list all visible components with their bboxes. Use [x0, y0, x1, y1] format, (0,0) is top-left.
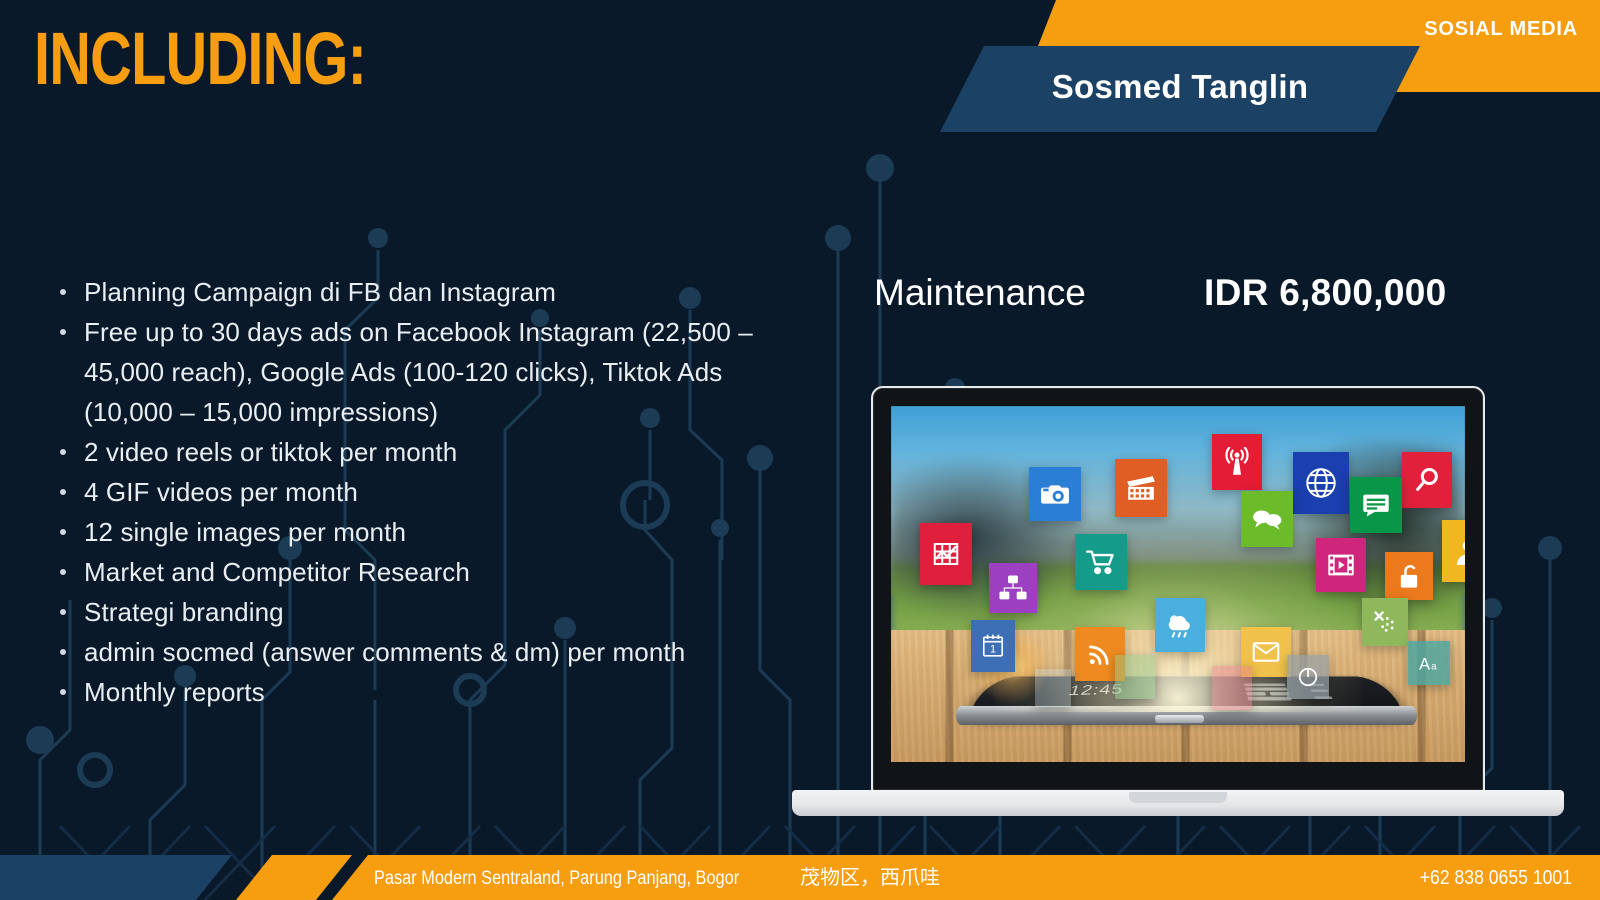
broadcast-icon: [1212, 434, 1262, 490]
globe-icon: [1293, 452, 1349, 514]
chat-bubbles-icon: [1241, 491, 1293, 547]
footer-phone: +62 838 0655 1001: [1420, 867, 1572, 890]
list-item: 4 GIF videos per month: [52, 472, 792, 512]
sparkle-icon: [1362, 598, 1408, 646]
laptop-illustration: 12:45: [866, 386, 1490, 816]
cart-icon: [1075, 534, 1127, 590]
list-item: admin socmed (answer comments & dm) per …: [52, 632, 792, 672]
message-icon: [1350, 477, 1402, 533]
header-category-label: SOSIAL MEDIA: [1424, 18, 1578, 41]
placeholder-tile-grey: [1035, 669, 1071, 707]
footer-orange-stripe: [236, 855, 352, 900]
smartphone-home-button: [1155, 715, 1204, 723]
slide-canvas: SOSIAL MEDIA Sosmed Tanglin INCLUDING: P…: [0, 0, 1600, 900]
chart-icon: [920, 523, 972, 585]
compass-icon: [1287, 655, 1329, 699]
video-icon: [1316, 538, 1366, 592]
list-item: 2 video reels or tiktok per month: [52, 432, 792, 472]
film-clapper-icon: [1115, 459, 1167, 517]
placeholder-tile-pink: [1212, 666, 1252, 710]
laptop-lid: 12:45: [871, 386, 1485, 792]
list-item: Free up to 30 days ads on Facebook Insta…: [52, 312, 792, 432]
search-icon: [1402, 452, 1452, 508]
inclusions-list: Planning Campaign di FB dan Instagram Fr…: [52, 272, 792, 712]
placeholder-tile-green: [1115, 655, 1155, 699]
footer-bar: Pasar Modern Sentraland, Parung Panjang,…: [0, 855, 1600, 900]
list-item: Planning Campaign di FB dan Instagram: [52, 272, 792, 312]
calendar-icon: 1: [971, 620, 1015, 672]
list-item: Monthly reports: [52, 672, 792, 712]
list-item: Strategi branding: [52, 592, 792, 632]
unlock-icon: [1385, 552, 1433, 600]
svg-text:1: 1: [990, 643, 996, 655]
svg-text:A: A: [1419, 655, 1430, 672]
page-title: INCLUDING:: [34, 22, 366, 96]
svg-text:a: a: [1431, 661, 1437, 672]
weather-icon: [1155, 598, 1205, 652]
pricing-value: IDR 6,800,000: [1204, 272, 1447, 314]
contact-icon: [1442, 520, 1465, 582]
footer-address-chinese: 茂物区，西爪哇: [800, 861, 940, 890]
camera-icon: [1029, 467, 1081, 521]
header-package-title: Sosmed Tanglin: [940, 68, 1420, 106]
list-item: Market and Competitor Research: [52, 552, 792, 592]
footer-blue-shape: [0, 855, 232, 900]
list-item: 12 single images per month: [52, 512, 792, 552]
font-size-icon: A a: [1408, 641, 1450, 685]
network-icon: [989, 563, 1037, 613]
footer-address: Pasar Modern Sentraland, Parung Panjang,…: [374, 868, 739, 890]
header-package-banner: Sosmed Tanglin: [940, 46, 1420, 132]
pricing-row: Maintenance IDR 6,800,000: [874, 272, 1514, 314]
pricing-label: Maintenance: [874, 272, 1204, 314]
laptop-base-notch: [1129, 792, 1227, 803]
laptop-screen: 12:45: [891, 406, 1465, 762]
